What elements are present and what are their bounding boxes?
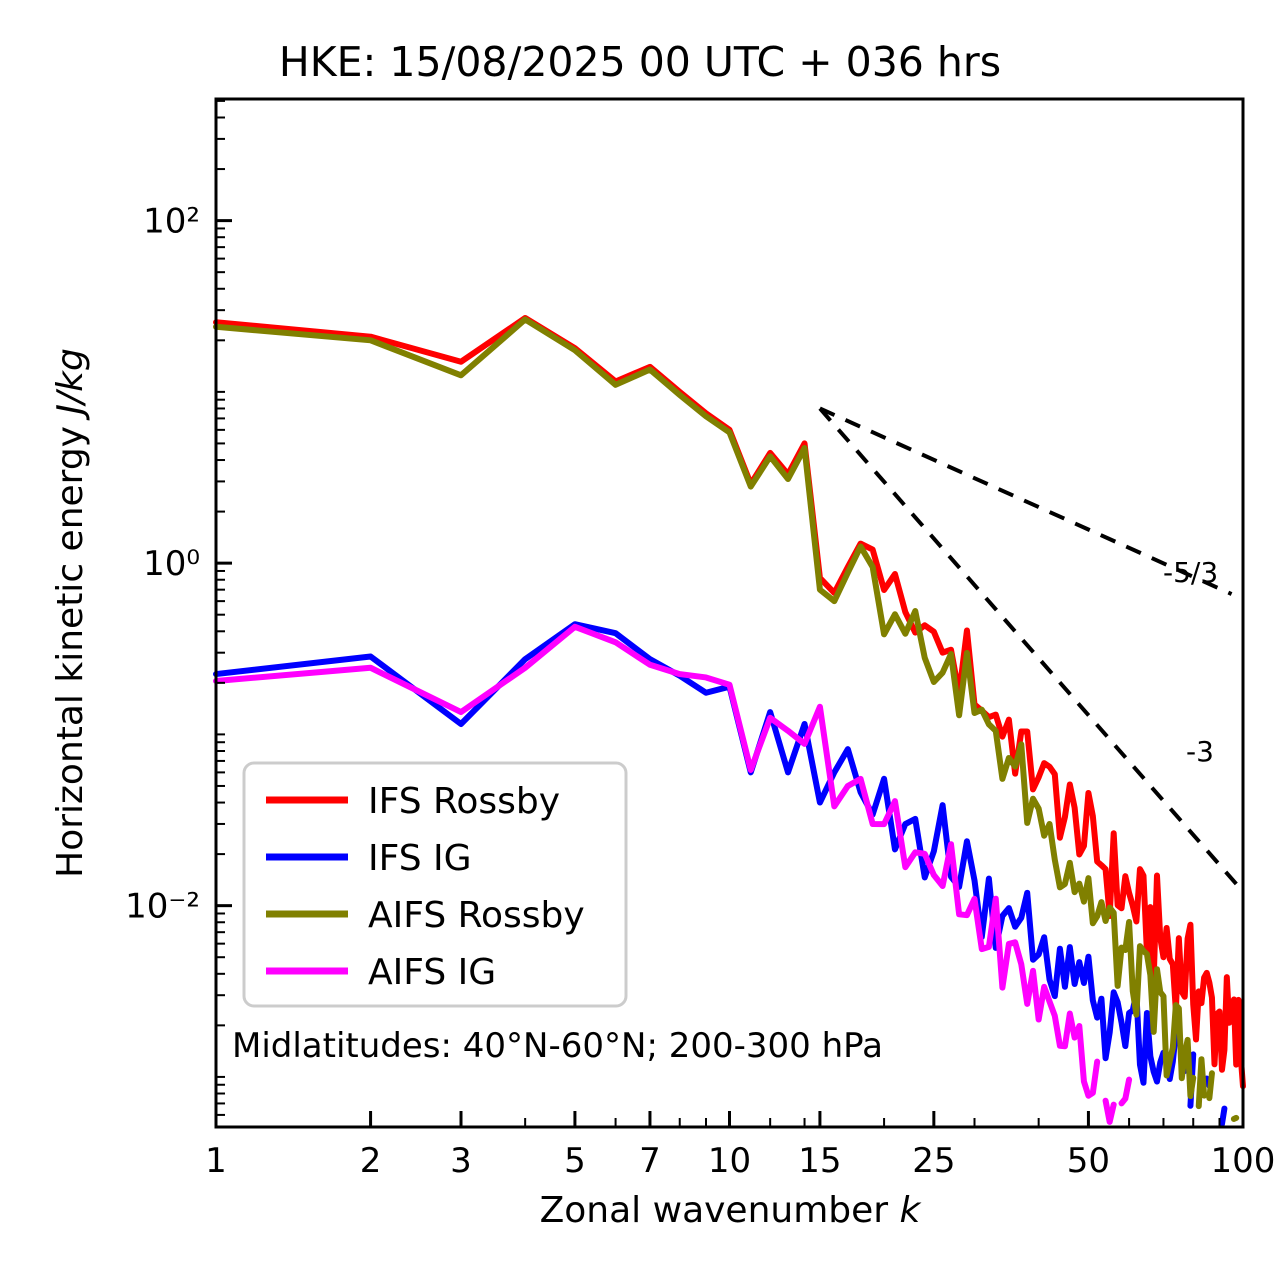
y-axis-label-symbol: J/kg (50, 348, 91, 420)
y-tick-label: 10⁻² (125, 887, 200, 927)
x-axis-label-symbol: k (900, 1190, 923, 1231)
legend-label-ifs-rossby[interactable]: IFS Rossby (368, 781, 560, 822)
legend-label-ifs-ig[interactable]: IFS IG (368, 838, 472, 879)
x-tick-label: 2 (360, 1141, 382, 1181)
legend: IFS RossbyIFS IGAIFS RossbyAIFS IG (244, 763, 626, 1006)
x-tick-label: 50 (1067, 1141, 1110, 1181)
slope-label-minus-5-3: -5/3 (1163, 556, 1218, 589)
spectrum-chart: 1235710152550100 10²10⁰10⁻² -5/3 -3 Zona… (0, 0, 1280, 1288)
y-tick-label: 10⁰ (143, 544, 200, 584)
x-axis-label-text: Zonal wavenumber (540, 1190, 900, 1231)
x-tick-label: 7 (639, 1141, 661, 1181)
region-annotation: Midlatitudes: 40°N-60°N; 200-300 hPa (232, 1026, 883, 1066)
x-tick-label: 5 (564, 1141, 586, 1181)
x-tick-label: 3 (450, 1141, 472, 1181)
legend-label-aifs-rossby[interactable]: AIFS Rossby (368, 895, 585, 936)
y-tick-label: 10² (143, 202, 200, 242)
x-tick-label: 100 (1211, 1141, 1276, 1181)
y-axis-label: Horizontal kinetic energy J/kg (50, 348, 91, 878)
y-axis-label-text: Horizontal kinetic energy (50, 415, 91, 878)
figure-root: HKE: 15/08/2025 00 UTC + 036 hrs 1235710… (0, 0, 1280, 1288)
x-tick-label: 10 (708, 1141, 751, 1181)
x-tick-label: 1 (205, 1141, 227, 1181)
x-tick-label: 25 (912, 1141, 955, 1181)
x-axis-label: Zonal wavenumber k (540, 1190, 923, 1231)
legend-label-aifs-ig[interactable]: AIFS IG (368, 952, 496, 993)
x-tick-label: 15 (798, 1141, 841, 1181)
slope-label-minus-3: -3 (1186, 735, 1214, 768)
